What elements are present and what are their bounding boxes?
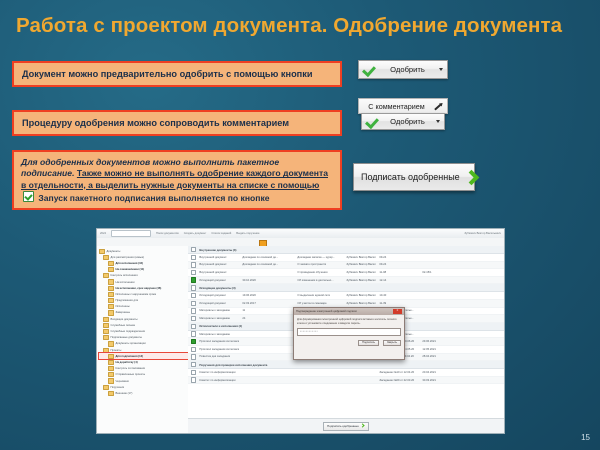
table-cell: Исходящий документ <box>199 294 239 297</box>
tree-item-label: На исполнении <box>116 281 135 284</box>
row-checkbox[interactable] <box>191 308 196 313</box>
folder-icon <box>108 292 114 297</box>
with-comment-label: С комментарием <box>363 102 430 111</box>
table-row[interactable]: Внутренний документДокладная по основной… <box>188 254 504 262</box>
table-cell: Комитет по информатизации <box>199 371 239 374</box>
callout-box-batch-sign-hint: Для одобренных документов можно выполнит… <box>12 150 342 210</box>
tree-item-label: Подписанные документы <box>111 336 142 339</box>
folder-icon <box>108 360 114 365</box>
table-cell: Повестка дня заседания <box>199 355 239 358</box>
tree-item-label: Для подписания (13) <box>116 355 144 358</box>
table-cell: Заседание №10 от 12.04.20 <box>379 371 419 374</box>
pencil-icon <box>433 101 443 111</box>
signature-dialog[interactable]: Подтверждение электронной цифровой подпи… <box>293 307 405 360</box>
tree-item-label: Предложения для <box>116 299 139 302</box>
group-header-row[interactable]: Внутренние документы (3) <box>188 246 504 254</box>
table-cell: Протокол заседания коллегиального органа <box>199 340 239 343</box>
folder-icon <box>108 267 114 272</box>
table-cell: Докладная по основной де... <box>242 263 294 266</box>
table-cell: Зубкович Виктор Василье... <box>346 263 376 266</box>
table-row[interactable]: Внутренний документО проведении обучения… <box>188 269 504 277</box>
folder-icon <box>103 335 109 340</box>
dialog-titlebar: Подтверждение электронной цифровой подпи… <box>294 308 404 315</box>
folder-icon <box>108 261 114 266</box>
folder-icon <box>108 354 114 359</box>
chevron-right-icon <box>361 424 365 429</box>
row-checkbox[interactable] <box>191 339 196 344</box>
table-cell: 30.03.2021 <box>422 379 456 382</box>
table-cell: 28.04.2021 <box>422 355 456 358</box>
folder-icon <box>103 273 109 278</box>
table-cell: 29.06.2021 <box>422 340 456 343</box>
table-row[interactable]: Внутренний документДокладная по основной… <box>188 262 504 270</box>
chevron-right-icon <box>464 170 477 185</box>
tree-item-label: Служебные подразделения <box>111 330 145 333</box>
row-checkbox[interactable] <box>191 377 196 382</box>
approve-button-secondary[interactable]: Одобрить <box>361 113 445 130</box>
tree-item-label: На ознакомлении (11) <box>116 268 145 271</box>
tree-item-label: Завершены <box>116 311 131 314</box>
table-cell: Зубкович Виктор Василье... <box>346 279 376 282</box>
dialog-body: Для формирования электронной цифровой по… <box>294 315 404 349</box>
table-cell: Внутренний документ <box>199 263 239 266</box>
callout-3-part3: Запуск пакетного подписания выполняется … <box>38 193 269 203</box>
callout-text-3: Для одобренных документов можно выполнит… <box>14 152 340 209</box>
tree-item-label: На доработку (4) <box>116 361 138 364</box>
row-checkbox[interactable] <box>191 354 196 359</box>
folder-icon <box>108 286 114 291</box>
table-cell: 19.06.2020 <box>242 294 294 297</box>
row-checkbox[interactable] <box>191 347 196 352</box>
table-cell: 12.05.2021 <box>422 348 456 351</box>
tree-item-label: На исполнении, срок нарушен (46) <box>116 287 162 290</box>
page-title: Работа с проектом документа. Одобрение д… <box>16 14 586 38</box>
callout-text-1: Документ можно предварительно одобрить с… <box>14 69 340 79</box>
tree-item-label: Для исполнения (34) <box>116 262 143 265</box>
sign-approved-button[interactable]: Подписать одобренные <box>353 163 475 191</box>
tree-item-label: Для рассмотрения (новые) <box>111 256 145 259</box>
app-tree-panel[interactable]: ДокументыДля рассмотрения (новые)Для исп… <box>97 246 190 433</box>
group-checkbox[interactable] <box>191 324 196 329</box>
approve-secondary-label: Одобрить <box>382 117 433 126</box>
table-cell: 02-15/1 <box>422 271 456 274</box>
toolbar-year[interactable]: 2024 <box>100 232 106 235</box>
toolbar-item-assign[interactable]: Выдать поручение <box>236 232 259 235</box>
row-checkbox[interactable] <box>191 262 196 267</box>
row-checkbox[interactable] <box>191 255 196 260</box>
chevron-down-icon[interactable] <box>436 120 440 123</box>
table-cell: 20.04.2021 <box>422 371 456 374</box>
app-footer: Подписать одобренные <box>188 418 504 433</box>
table-cell: Исходящий документ <box>199 279 239 282</box>
row-checkbox[interactable] <box>191 293 196 298</box>
table-cell: 12-14 <box>379 279 419 282</box>
row-checkbox[interactable] <box>191 331 196 336</box>
tree-item-label: Исполнены с нарушением срока <box>116 293 157 296</box>
folder-icon <box>108 298 114 303</box>
callout-box-approve-hint: Документ можно предварительно одобрить с… <box>12 61 342 87</box>
table-cell: Заседание №09 от 22.03.20 <box>379 379 419 382</box>
table-cell: Протокол заседания коллегиального органа <box>199 348 239 351</box>
green-check-icon <box>23 191 34 202</box>
chevron-down-icon[interactable] <box>439 68 443 71</box>
table-cell: Зубкович Виктор Василье... <box>346 302 376 305</box>
approve-button-label: Одобрить <box>379 65 436 74</box>
folder-icon <box>108 366 114 371</box>
callout-box-comment-hint: Процедуру одобрения можно сопроводить ко… <box>12 110 342 136</box>
dialog-buttons: Подписать Закрыть <box>297 340 401 347</box>
group-header-row[interactable]: Поручения для проверки исполнения докуме… <box>188 361 504 369</box>
tree-item[interactable]: Внешние (17) <box>99 390 189 396</box>
table-cell: 10-40 <box>379 294 419 297</box>
folder-icon <box>108 372 114 377</box>
callout-text-2: Процедуру одобрения можно сопроводить ко… <box>14 118 340 128</box>
group-header-label: Исходящие документы (3) <box>199 286 235 290</box>
tree-item-label: Контроль исполнения <box>111 274 138 277</box>
dialog-message: Для формирования электронной цифровой по… <box>297 318 401 325</box>
tree-item-label: Внешние (17) <box>116 392 133 395</box>
tree-item-label: Документы <box>107 250 121 253</box>
tree-item-label: Проекты <box>111 349 122 352</box>
embedded-app-screenshot: 2024 Поиск документов Создать документ С… <box>96 228 505 434</box>
group-header-row[interactable]: Исходящие документы (3) <box>188 284 504 292</box>
tree-item-label: Отправленные проекты <box>116 373 146 376</box>
group-header-label: Исполнители и исполнения (4) <box>199 324 242 328</box>
table-row[interactable]: Комитет по информатизацииЗаседание №09 о… <box>188 377 504 385</box>
close-icon[interactable]: ✕ <box>393 309 402 314</box>
tree-item-label: Документы организации <box>116 342 146 345</box>
group-checkbox[interactable] <box>191 285 196 290</box>
table-cell: Зубкович Виктор Василье... <box>346 256 376 259</box>
table-cell: Докладная записка — курир... <box>297 256 343 259</box>
folder-icon <box>103 348 109 353</box>
toolbar-item-task-list[interactable]: Список заданий <box>211 232 231 235</box>
folder-icon <box>103 323 109 328</box>
row-checkbox[interactable] <box>191 270 196 275</box>
table-cell: Зубкович Виктор Василье... <box>346 271 376 274</box>
row-checkbox[interactable] <box>191 301 196 306</box>
toolbar-user[interactable]: Зубкович Виктор Васильевич <box>464 232 501 235</box>
folder-icon <box>99 249 105 254</box>
table-cell: О проведении обучения <box>297 271 343 274</box>
group-checkbox[interactable] <box>191 247 196 252</box>
app-sign-approved-label: Подписать одобренные <box>327 424 359 428</box>
table-cell: 30.10.2020 <box>242 279 294 282</box>
search-input[interactable] <box>111 230 151 237</box>
table-cell: Материалы к заседанию <box>199 333 239 336</box>
folder-icon <box>103 385 109 390</box>
group-checkbox[interactable] <box>191 362 196 367</box>
tree-item-label: Контроль согласования <box>116 367 145 370</box>
table-cell: 11 <box>242 309 294 312</box>
table-cell: О выделении единой сети <box>297 294 343 297</box>
app-sign-approved-button[interactable]: Подписать одобренные <box>323 422 369 431</box>
green-check-icon <box>366 116 378 127</box>
green-check-icon <box>363 64 375 75</box>
dialog-cancel-button[interactable]: Закрыть <box>383 340 401 347</box>
table-cell: Об участии в семинаре <box>297 302 343 305</box>
table-cell: О захвате пространств <box>297 263 343 266</box>
row-checkbox[interactable] <box>191 316 196 321</box>
folder-icon <box>103 317 109 322</box>
menu-item-with-comment[interactable]: С комментарием <box>358 98 448 114</box>
table-row[interactable]: Исходящий документ19.06.2020О выделении … <box>188 292 504 300</box>
table-cell: Внутренний документ <box>199 271 239 274</box>
table-cell: Докладная по основной де... <box>242 256 294 259</box>
table-cell: 24 <box>242 317 294 320</box>
password-field[interactable]: •••••••••••• <box>297 328 401 336</box>
dialog-ok-button[interactable]: Подписать <box>358 340 379 347</box>
table-cell: Материалы к заседанию <box>199 317 239 320</box>
table-cell: Исходящий документ <box>199 302 239 305</box>
table-row[interactable]: Исходящий документ30.10.2020Об изменении… <box>188 277 504 285</box>
folder-icon <box>108 310 114 315</box>
table-cell: Внутренний документ <box>199 256 239 259</box>
tree-item-label: Служебные письма <box>111 324 135 327</box>
table-cell: Комитет по информатизации <box>199 379 239 382</box>
sign-approved-label: Подписать одобренные <box>361 172 460 182</box>
folder-icon <box>108 304 114 309</box>
row-checkbox[interactable] <box>191 277 196 282</box>
toolbar-item-search-docs[interactable]: Поиск документов <box>156 232 179 235</box>
folder-icon <box>108 341 114 346</box>
dialog-title: Подтверждение электронной цифровой подпи… <box>296 310 357 313</box>
tree-item-label: Исполнены <box>116 305 130 308</box>
table-cell: 02.03.2017 <box>242 302 294 305</box>
page-number: 15 <box>581 433 590 442</box>
table-cell: Об изменении в деятельно... <box>297 279 343 282</box>
table-cell: 09-24 <box>379 263 419 266</box>
table-cell: 09-24 <box>379 256 419 259</box>
folder-icon <box>108 391 114 396</box>
table-cell: 11-39 <box>379 302 419 305</box>
approve-button[interactable]: Одобрить <box>358 60 448 79</box>
row-checkbox[interactable] <box>191 370 196 375</box>
slide-canvas: Работа с проектом документа. Одобрение д… <box>0 0 600 450</box>
table-cell: Зубкович Виктор Василье... <box>346 294 376 297</box>
tree-item-label: Входящие документы <box>111 318 138 321</box>
folder-icon <box>103 329 109 334</box>
folder-icon <box>103 255 109 260</box>
table-cell: 11-08 <box>379 271 419 274</box>
table-cell: Материалы к заседанию <box>199 309 239 312</box>
tree-item-label: Черновики <box>116 380 129 383</box>
tree-item-label: Поручения <box>111 386 125 389</box>
table-row[interactable]: Комитет по информатизацииЗаседание №10 о… <box>188 369 504 377</box>
folder-icon <box>108 378 114 383</box>
group-header-label: Поручения для проверки исполнения докуме… <box>199 363 267 367</box>
group-header-label: Внутренние документы (3) <box>199 248 236 252</box>
toolbar-item-create-doc[interactable]: Создать документ <box>184 232 207 235</box>
folder-icon <box>108 279 114 284</box>
